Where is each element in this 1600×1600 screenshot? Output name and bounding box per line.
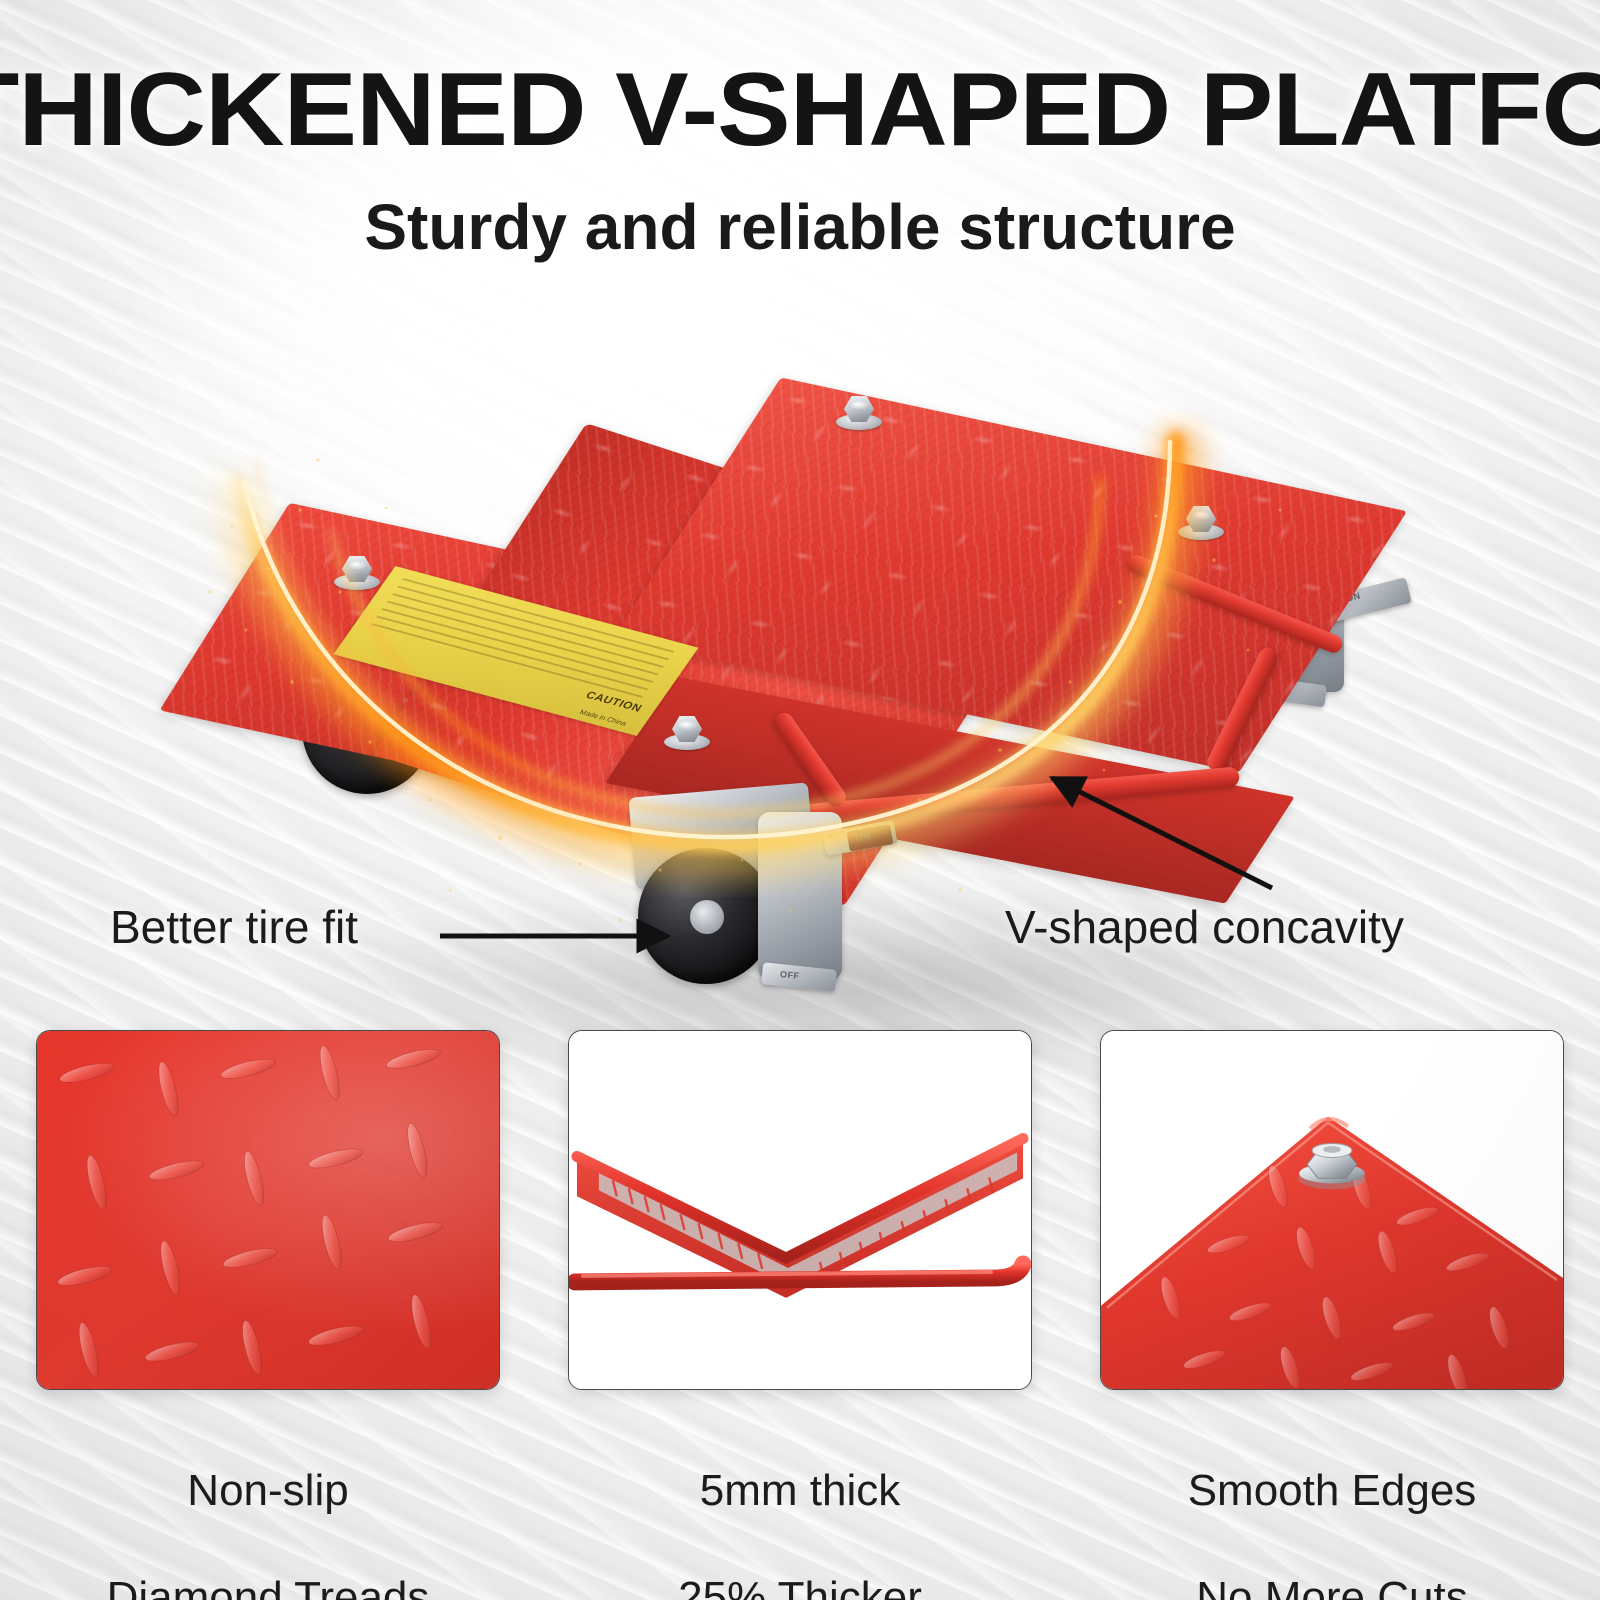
bolt-left [334,548,380,590]
caption-line-2: Diamond Treads [36,1571,500,1600]
caption-line-2: No More Cuts [1100,1571,1564,1600]
caption-panel-1: Non-slip Diamond Treads [36,1410,500,1600]
feature-panels: Non-slip Diamond Treads 5mm thick 25% Th… [0,1030,1600,1600]
diamond-plate-texture [37,1031,499,1389]
bolt-top [346,561,368,570]
caption-line-1: Smooth Edges [1100,1464,1564,1518]
panel-non-slip-diamond-treads [36,1030,500,1390]
bolt-top [1190,511,1212,520]
caption-line-2: 25% Thicker [568,1571,1032,1600]
caption-panel-2: 5mm thick 25% Thicker [568,1410,1032,1600]
caster-front-left: ON OFF [610,790,910,1020]
caster-hub [690,900,724,934]
subheadline-container: Sturdy and reliable structure [0,190,1600,264]
bolt-front-center [664,708,710,750]
bolt-right [1178,498,1224,540]
page-subtitle: Sturdy and reliable structure [0,190,1600,264]
page-title: THICKENED V-SHAPED PLATFORM [0,58,1600,162]
bolt-top [848,401,870,410]
bolt-rear-center [836,388,882,430]
v-cross-section-illustration [569,1031,1031,1389]
poster-canvas: THICKENED V-SHAPED PLATFORM Sturdy and r… [0,0,1600,1600]
callout-v-shaped-concavity: V-shaped concavity [1005,900,1404,954]
caption-line-1: 5mm thick [568,1464,1032,1518]
bolt-top [676,721,698,730]
panel-thickness [568,1030,1032,1390]
headline-container: THICKENED V-SHAPED PLATFORM [0,58,1600,162]
caption-panel-3: Smooth Edges No More Cuts [1100,1410,1564,1600]
callout-better-tire-fit: Better tire fit [110,900,358,954]
corner-bolt-illustration [1101,1031,1563,1389]
brake-off-label: OFF [780,969,800,981]
panel-smooth-edges [1100,1030,1564,1390]
caption-line-1: Non-slip [36,1464,500,1518]
